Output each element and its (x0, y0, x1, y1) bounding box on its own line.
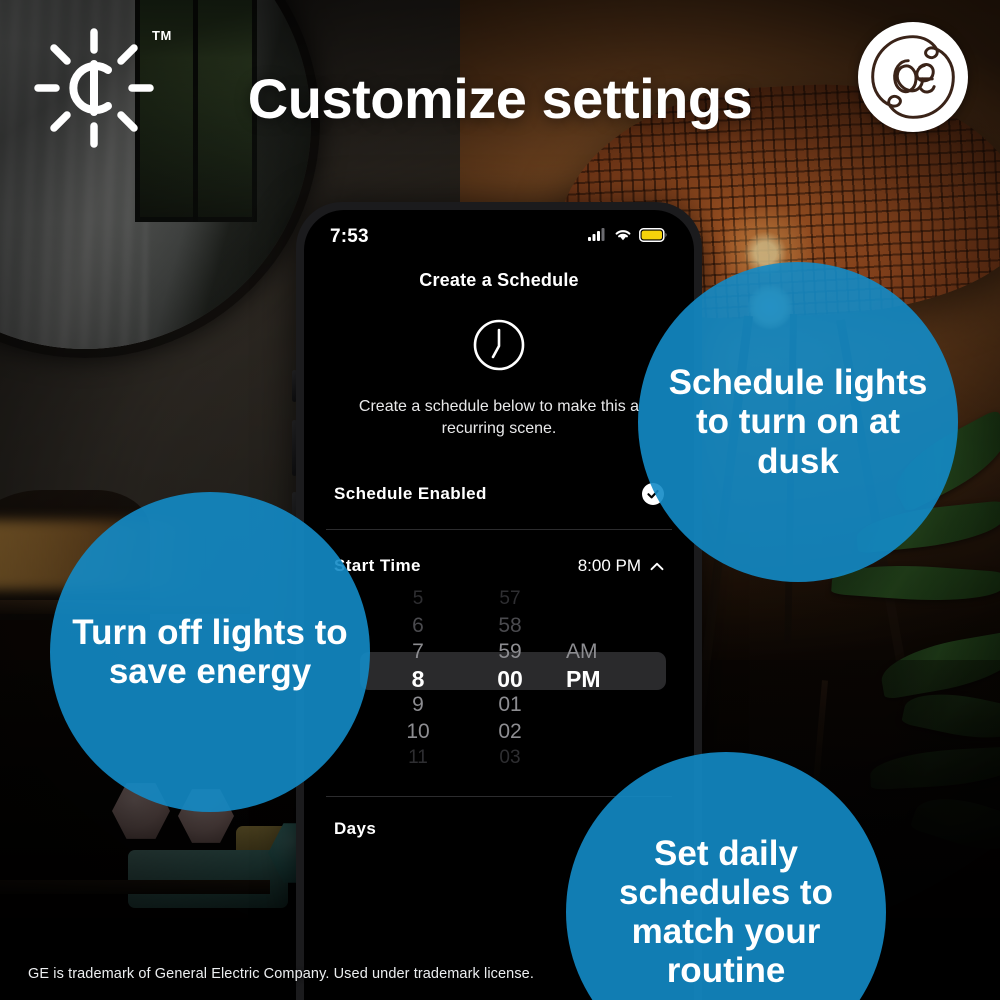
minute-option[interactable]: 01 (464, 692, 556, 719)
schedule-description: Create a schedule below to make this a r… (304, 396, 694, 439)
battery-low-power-icon (639, 228, 668, 247)
callout-text: Set daily schedules to match your routin… (588, 834, 864, 991)
status-bar-time: 7:53 (330, 226, 369, 248)
schedule-enabled-label: Schedule Enabled (334, 484, 487, 504)
minute-option-selected[interactable]: 00 (464, 666, 556, 693)
meridiem-spacer: . (566, 586, 642, 613)
minute-column[interactable]: 57 58 59 00 01 02 03 (464, 586, 556, 772)
hour-option[interactable]: 9 (372, 692, 464, 719)
start-time-value-group[interactable]: 8:00 PM (578, 556, 664, 576)
trademark-symbol: TM (152, 28, 172, 43)
minute-option[interactable]: 58 (464, 613, 556, 640)
start-time-row[interactable]: Start Time 8:00 PM (304, 556, 694, 576)
status-bar: 7:53 (304, 210, 694, 248)
screen-title: Create a Schedule (304, 270, 694, 291)
cellular-signal-icon (588, 228, 607, 246)
meridiem-spacer: . (566, 613, 642, 640)
start-time-value: 8:00 PM (578, 556, 641, 576)
meridiem-option-selected[interactable]: PM (566, 666, 642, 693)
minute-option[interactable]: 02 (464, 719, 556, 746)
clock-icon-wrapper (304, 317, 694, 378)
meridiem-column[interactable]: . . AM PM (556, 586, 642, 772)
callout-bubble-energy: Turn off lights to save energy (50, 492, 370, 812)
hour-option[interactable]: 11 (372, 745, 464, 772)
minute-option[interactable]: 03 (464, 745, 556, 772)
page-title: Customize settings (0, 66, 1000, 131)
hour-option[interactable]: 6 (372, 613, 464, 640)
legal-disclaimer: GE is trademark of General Electric Comp… (28, 966, 534, 982)
hour-option[interactable]: 5 (372, 586, 464, 613)
callout-text: Turn off lights to save energy (72, 613, 348, 691)
schedule-enabled-row[interactable]: Schedule Enabled (304, 483, 694, 505)
hour-option[interactable]: 10 (372, 719, 464, 746)
clock-icon (471, 317, 527, 378)
chevron-up-icon[interactable] (650, 556, 664, 576)
minute-option[interactable]: 57 (464, 586, 556, 613)
promo-graphic: TM Customize settings 7:53 (0, 0, 1000, 1000)
row-divider (326, 529, 672, 530)
meridiem-option[interactable]: AM (566, 639, 642, 666)
hour-option[interactable]: 7 (372, 639, 464, 666)
callout-text: Schedule lights to turn on at dusk (660, 363, 936, 481)
hour-option-selected[interactable]: 8 (372, 666, 464, 693)
callout-bubble-dusk: Schedule lights to turn on at dusk (638, 262, 958, 582)
status-bar-icons (588, 228, 668, 247)
hour-column[interactable]: 5 6 7 8 9 10 11 (372, 586, 464, 772)
minute-option[interactable]: 59 (464, 639, 556, 666)
wifi-icon (614, 228, 632, 246)
